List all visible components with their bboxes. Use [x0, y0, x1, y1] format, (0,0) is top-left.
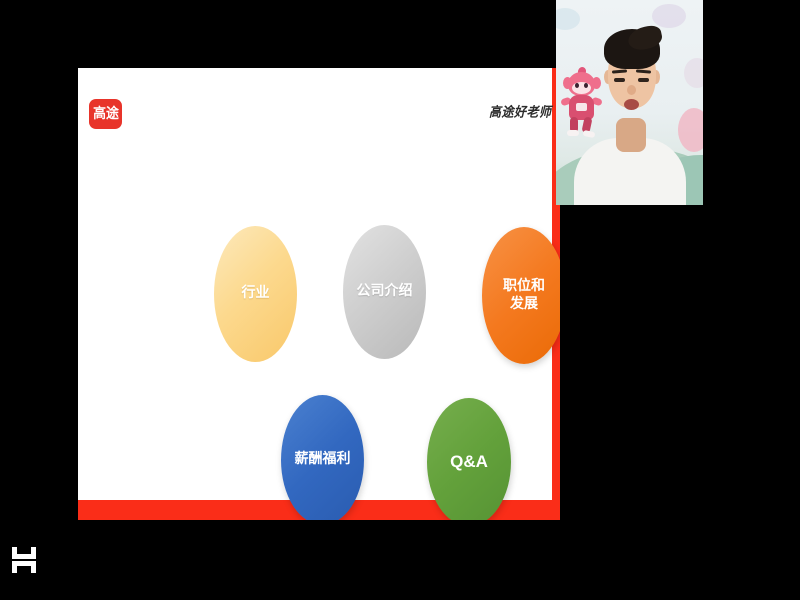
bubble-position[interactable]: 职位和 发展 — [482, 227, 560, 364]
slide-corner-notch — [506, 454, 552, 500]
bubble-position-label-line2: 发展 — [503, 296, 545, 314]
bubble-position-label-line1: 职位和 — [503, 278, 545, 294]
presenter-eye-left — [614, 78, 625, 82]
presenter-neck — [616, 118, 646, 152]
bubble-industry[interactable]: 行业 — [214, 226, 297, 362]
slide-slogan: 高途好老师 — [489, 102, 552, 121]
presenter-nose — [627, 85, 636, 95]
bubble-position-label-wrap: 职位和 发展 — [503, 278, 545, 313]
presenter-eye-right — [638, 78, 649, 82]
presenter-person — [556, 0, 703, 205]
bubble-qa[interactable]: Q&A — [427, 398, 511, 520]
bubble-company-label: 公司介绍 — [357, 283, 413, 301]
presentation-slide[interactable]: 行业 公司介绍 职位和 发展 薪酬福利 Q&A — [78, 68, 560, 520]
bubble-industry-label: 行业 — [242, 285, 270, 303]
fit-to-screen-icon[interactable] — [10, 545, 38, 575]
presenter-mouth — [624, 99, 639, 110]
gaotu-logo: 高途 — [89, 99, 122, 129]
gaotu-logo-text: 高途 — [93, 107, 119, 121]
presenter-video[interactable] — [556, 0, 703, 205]
bubble-salary-label: 薪酬福利 — [295, 451, 351, 469]
screen-root: 行业 公司介绍 职位和 发展 薪酬福利 Q&A 高途 高途好老师 — [0, 0, 800, 600]
bubble-company[interactable]: 公司介绍 — [343, 225, 426, 359]
bubble-salary[interactable]: 薪酬福利 — [281, 395, 364, 520]
bubble-qa-label: Q&A — [450, 451, 488, 472]
